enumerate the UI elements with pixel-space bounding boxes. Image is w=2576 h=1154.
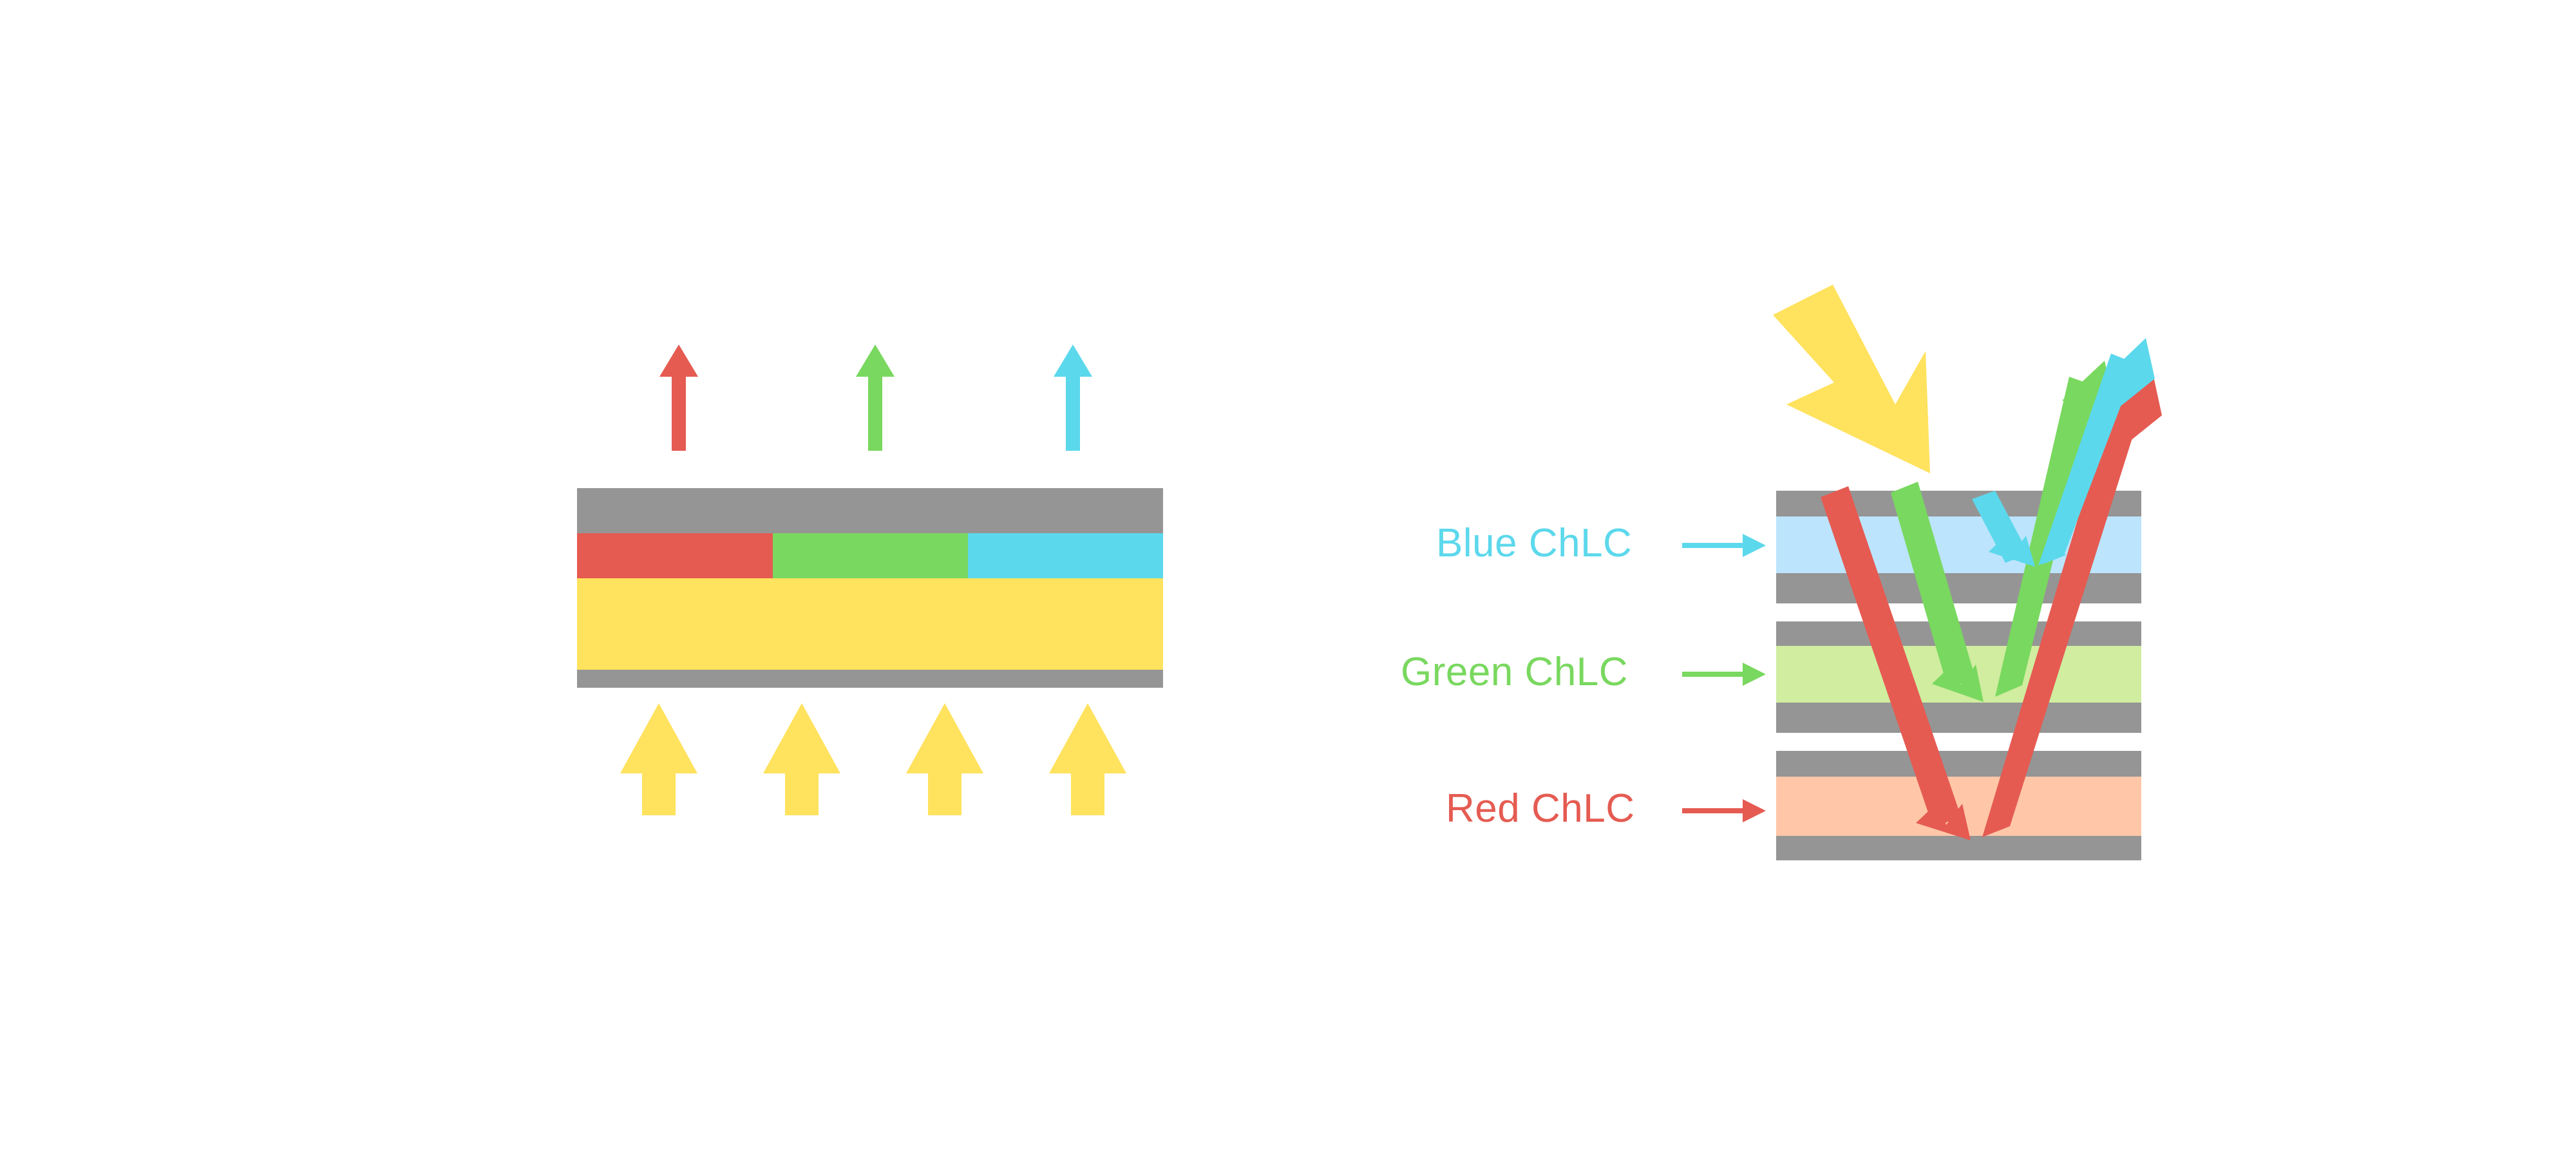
backlight-arrow-4: [1049, 703, 1126, 815]
diagram-canvas: Blue ChLC Green ChLC Red ChLC: [0, 0, 2576, 1154]
green-cell-bottom-electrode: [1776, 703, 2141, 733]
red-cell-top-electrode: [1776, 751, 2141, 777]
emitted-red-arrow: [659, 345, 698, 451]
green-chlc-label: Green ChLC: [1401, 649, 1628, 695]
backlight-arrow-1: [620, 703, 697, 815]
backlight-arrow-3: [906, 703, 983, 815]
emitted-cyan-arrow: [1054, 345, 1092, 451]
left-top-electrode: [577, 488, 1163, 533]
backlight-arrow-2: [763, 703, 840, 815]
red-chlc-label: Red ChLC: [1446, 786, 1634, 831]
right-panel-group: [1682, 285, 2162, 860]
blue-chlc-label: Blue ChLC: [1436, 520, 1632, 566]
left-panel-group: [577, 345, 1163, 815]
red-cell-bottom-electrode: [1776, 836, 2141, 860]
green-label-arrow-icon: [1682, 663, 1766, 686]
diagram-svg: [0, 0, 2576, 1154]
left-red-filter: [577, 533, 773, 578]
emitted-green-arrow: [856, 345, 895, 451]
left-cyan-filter: [968, 533, 1163, 578]
left-bottom-electrode: [577, 670, 1163, 688]
ambient-light-arrow: [1773, 285, 1930, 473]
blue-label-arrow-icon: [1682, 534, 1766, 557]
left-green-filter: [773, 533, 968, 578]
left-backlight-layer: [577, 578, 1163, 670]
red-label-arrow-icon: [1682, 799, 1766, 822]
